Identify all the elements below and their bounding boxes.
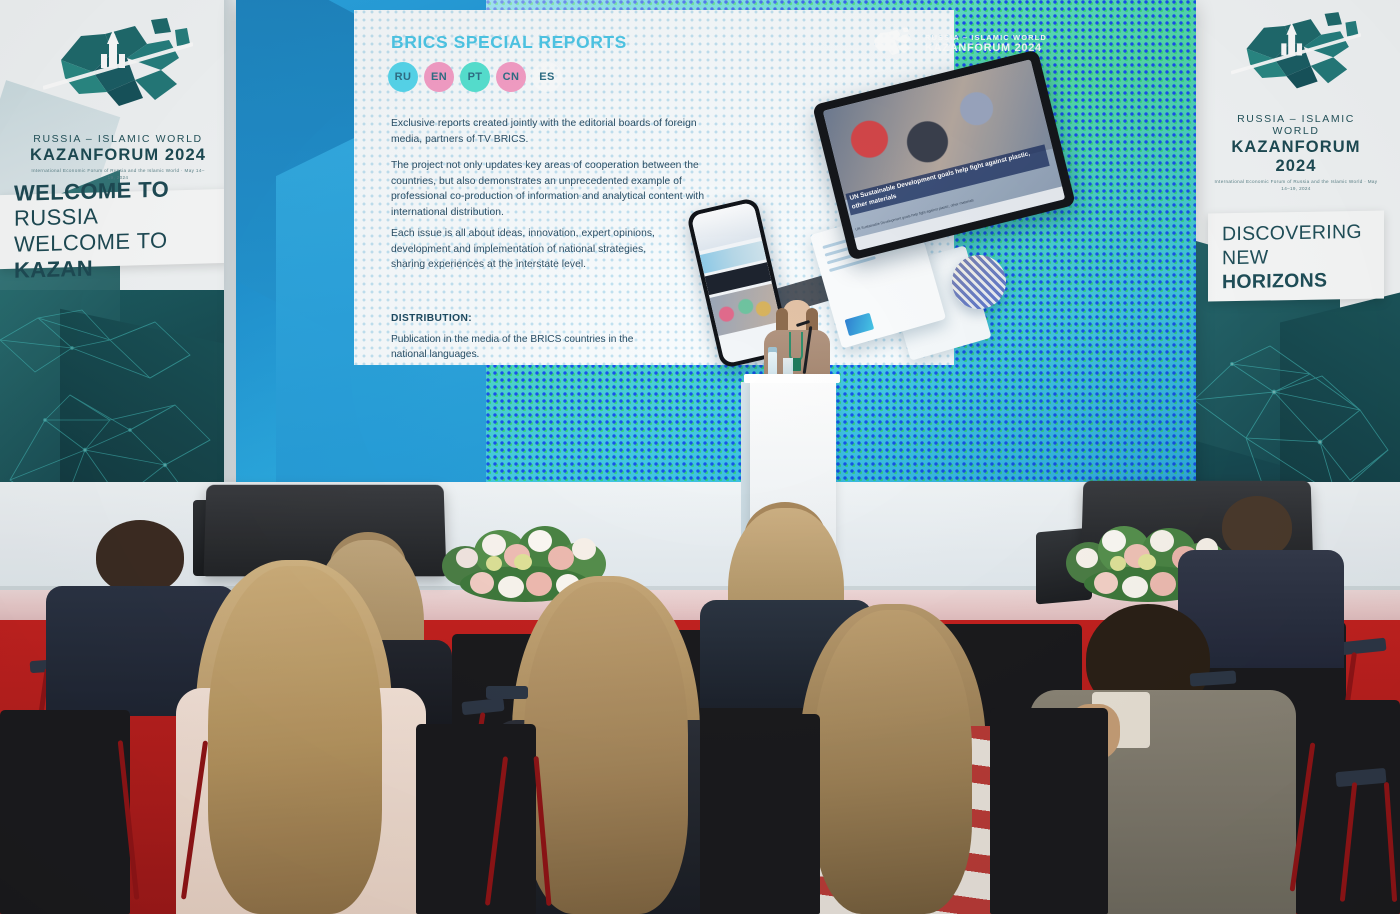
welcome-line1-rest: RUSSIA xyxy=(14,204,98,231)
podium-top-surface xyxy=(744,374,840,383)
right-logo-line2: KAZANFORUM 2024 xyxy=(1212,138,1380,176)
confidence-monitor-left xyxy=(204,485,447,577)
welcome-line1-bold: WELCOME TO xyxy=(14,176,169,205)
led-presentation-screen: BRICS SPECIAL REPORTS RU EN PT CN ES Exc… xyxy=(236,0,1196,490)
chair xyxy=(416,724,536,914)
welcome-line2-bold: KAZAN xyxy=(14,255,93,282)
led-map-icon xyxy=(866,26,918,60)
slide-paragraph-2: The project not only updates key areas o… xyxy=(391,158,736,221)
language-badge-pt: PT xyxy=(460,62,490,92)
welcome-line2-rest: WELCOME TO xyxy=(14,228,168,257)
welcome-sign: WELCOME TO RUSSIA WELCOME TO KAZAN xyxy=(0,189,228,269)
welcome-line-2: WELCOME TO KAZAN xyxy=(14,226,228,283)
language-badge-cn: CN xyxy=(496,62,526,92)
slide-paragraph-1: Exclusive reports created jointly with t… xyxy=(391,116,721,147)
right-logo-line1: RUSSIA – ISLAMIC WORLD xyxy=(1212,113,1380,137)
language-badge-ru: RU xyxy=(388,62,418,92)
chair xyxy=(0,710,130,914)
conference-hall-photo: RUSSIA – ISLAMIC WORLD KAZANFORUM 2024 I… xyxy=(0,0,1400,914)
horizons-line-2: NEW xyxy=(1222,244,1384,271)
slide-paragraph-3: Each issue is all about ideas, innovatio… xyxy=(391,226,671,273)
language-badge-row: RU EN PT CN ES xyxy=(388,62,562,92)
welcome-line-1: WELCOME TO RUSSIA xyxy=(14,175,228,232)
left-banner-logo: RUSSIA – ISLAMIC WORLD KAZANFORUM 2024 I… xyxy=(28,14,208,181)
chair xyxy=(990,708,1108,914)
chair xyxy=(1296,700,1400,914)
language-badge-es: ES xyxy=(532,62,562,92)
slide-card-logo-icon xyxy=(845,313,875,337)
horizons-line-1: DISCOVERING xyxy=(1222,220,1384,247)
left-logo-line2: KAZANFORUM 2024 xyxy=(28,146,208,165)
horizons-line-3: HORIZONS xyxy=(1222,268,1384,295)
led-logo-line1: RUSSIA – ISLAMIC WORLD xyxy=(925,33,1047,42)
distribution-heading: DISTRIBUTION: xyxy=(391,313,472,324)
chair xyxy=(700,714,820,914)
discovering-horizons-sign: DISCOVERING NEW HORIZONS xyxy=(1208,210,1384,301)
distribution-body: Publication in the media of the BRICS co… xyxy=(391,332,651,363)
slide-title: BRICS SPECIAL REPORTS xyxy=(391,32,627,53)
slide-disco-sphere xyxy=(952,255,1006,309)
left-logo-line1: RUSSIA – ISLAMIC WORLD xyxy=(28,133,208,145)
right-logo-line3: International Economic Forum of Russia a… xyxy=(1212,179,1380,192)
chair-arm xyxy=(486,686,528,699)
language-badge-en: EN xyxy=(424,62,454,92)
kazanforum-map-icon xyxy=(43,14,193,122)
right-banner-logo: RUSSIA – ISLAMIC WORLD KAZANFORUM 2024 I… xyxy=(1212,8,1380,192)
kazanforum-map-icon-right xyxy=(1231,8,1361,103)
